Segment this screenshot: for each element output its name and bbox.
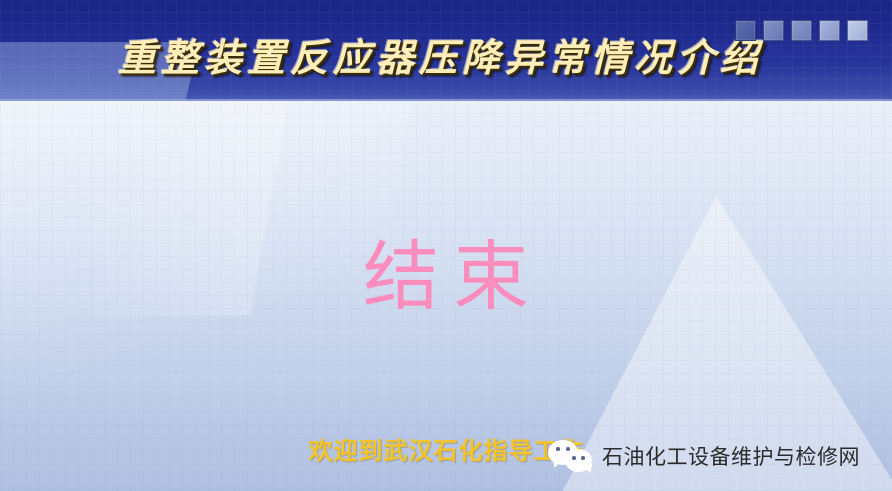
wechat-bubble-large-tail xyxy=(550,458,561,469)
watermark-label: 石油化工设备维护与检修网 xyxy=(602,444,860,470)
page-title: 重整装置反应器压降异常情况介绍 xyxy=(118,30,778,86)
square-5-icon xyxy=(847,20,868,41)
square-2-icon xyxy=(763,20,784,41)
header-square-decoration xyxy=(735,20,868,41)
wechat-bubble-small-tail xyxy=(584,464,595,475)
watermark: 石油化工设备维护与检修网 xyxy=(548,436,860,478)
square-3-icon xyxy=(791,20,812,41)
wechat-dot-2 xyxy=(566,447,570,451)
square-1-icon xyxy=(735,20,756,41)
wechat-icon xyxy=(548,440,594,474)
slide-header: 重整装置反应器压降异常情况介绍 xyxy=(0,0,892,101)
wechat-dot-1 xyxy=(556,447,560,451)
wechat-dot-3 xyxy=(572,456,576,460)
header-bottom-rule xyxy=(0,99,892,101)
presentation-slide: 重整装置反应器压降异常情况介绍 结束 欢迎到武汉石化指导工作 石油化工设备维护与… xyxy=(0,0,892,491)
slide-center-text: 结束 xyxy=(0,234,892,320)
square-4-icon xyxy=(819,20,840,41)
wechat-dot-4 xyxy=(581,456,585,460)
